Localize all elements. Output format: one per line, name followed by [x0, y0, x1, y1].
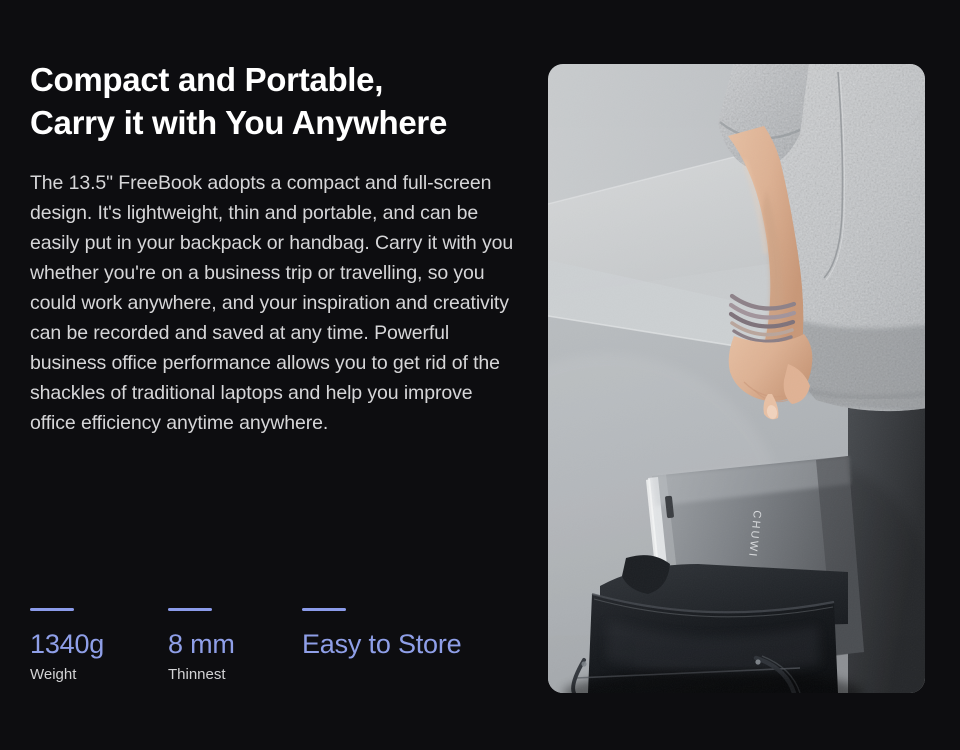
product-feature-page: Compact and Portable, Carry it with You …	[0, 0, 960, 750]
feature-text-column: Compact and Portable, Carry it with You …	[30, 58, 530, 438]
product-photo-illustration: CHUWI	[548, 64, 925, 693]
accent-rule-icon	[30, 608, 74, 611]
feature-description: The 13.5" FreeBook adopts a compact and …	[30, 144, 522, 438]
spec-label: Weight	[30, 665, 168, 685]
spec-highlights: 1340g Weight 8 mm Thinnest Easy to Store	[30, 608, 461, 685]
product-photo: CHUWI	[548, 64, 925, 693]
spec-value: 8 mm	[168, 629, 302, 659]
spec-item-storage: Easy to Store	[302, 608, 461, 665]
spec-item-thinnest: 8 mm Thinnest	[168, 608, 302, 685]
spec-item-weight: 1340g Weight	[30, 608, 168, 685]
accent-rule-icon	[302, 608, 346, 611]
spec-value: Easy to Store	[302, 629, 461, 659]
accent-rule-icon	[168, 608, 212, 611]
spec-label: Thinnest	[168, 665, 302, 685]
spec-value: 1340g	[30, 629, 168, 659]
page-title: Compact and Portable, Carry it with You …	[30, 58, 530, 144]
